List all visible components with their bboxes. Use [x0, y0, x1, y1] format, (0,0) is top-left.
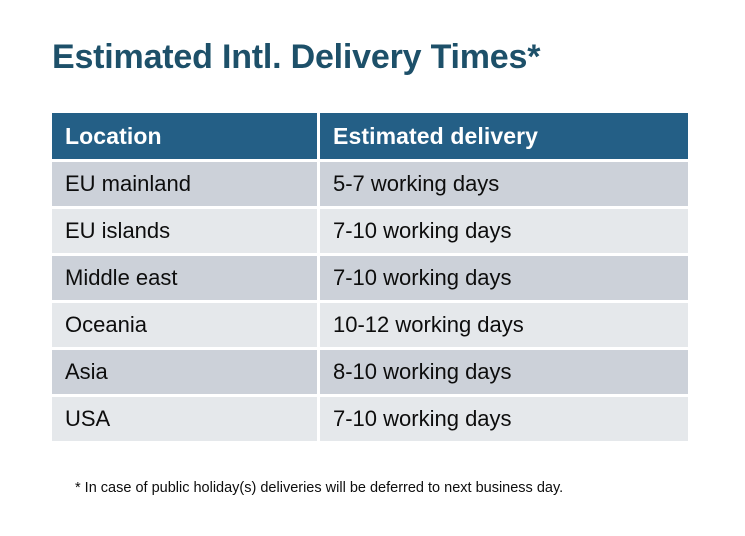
table-body: EU mainland 5-7 working days EU islands … — [52, 162, 688, 441]
cell-delivery: 7-10 working days — [320, 209, 688, 253]
table-row: Middle east 7-10 working days — [52, 256, 688, 300]
column-header-estimated-delivery: Estimated delivery — [320, 113, 688, 159]
page-title: Estimated Intl. Delivery Times* — [52, 36, 540, 78]
table-row: EU islands 7-10 working days — [52, 209, 688, 253]
delivery-times-table: Location Estimated delivery EU mainland … — [49, 110, 691, 444]
footnote-text: * In case of public holiday(s) deliverie… — [75, 478, 563, 498]
delivery-times-page: Estimated Intl. Delivery Times* Location… — [0, 0, 745, 536]
cell-delivery: 7-10 working days — [320, 397, 688, 441]
table-row: USA 7-10 working days — [52, 397, 688, 441]
table-row: Oceania 10-12 working days — [52, 303, 688, 347]
table-header: Location Estimated delivery — [52, 113, 688, 159]
cell-location: Asia — [52, 350, 317, 394]
table-row: Asia 8-10 working days — [52, 350, 688, 394]
cell-delivery: 7-10 working days — [320, 256, 688, 300]
column-header-location: Location — [52, 113, 317, 159]
cell-delivery: 8-10 working days — [320, 350, 688, 394]
cell-location: Oceania — [52, 303, 317, 347]
cell-delivery: 10-12 working days — [320, 303, 688, 347]
cell-delivery: 5-7 working days — [320, 162, 688, 206]
cell-location: Middle east — [52, 256, 317, 300]
cell-location: EU mainland — [52, 162, 317, 206]
cell-location: USA — [52, 397, 317, 441]
cell-location: EU islands — [52, 209, 317, 253]
table-header-row: Location Estimated delivery — [52, 113, 688, 159]
table-row: EU mainland 5-7 working days — [52, 162, 688, 206]
